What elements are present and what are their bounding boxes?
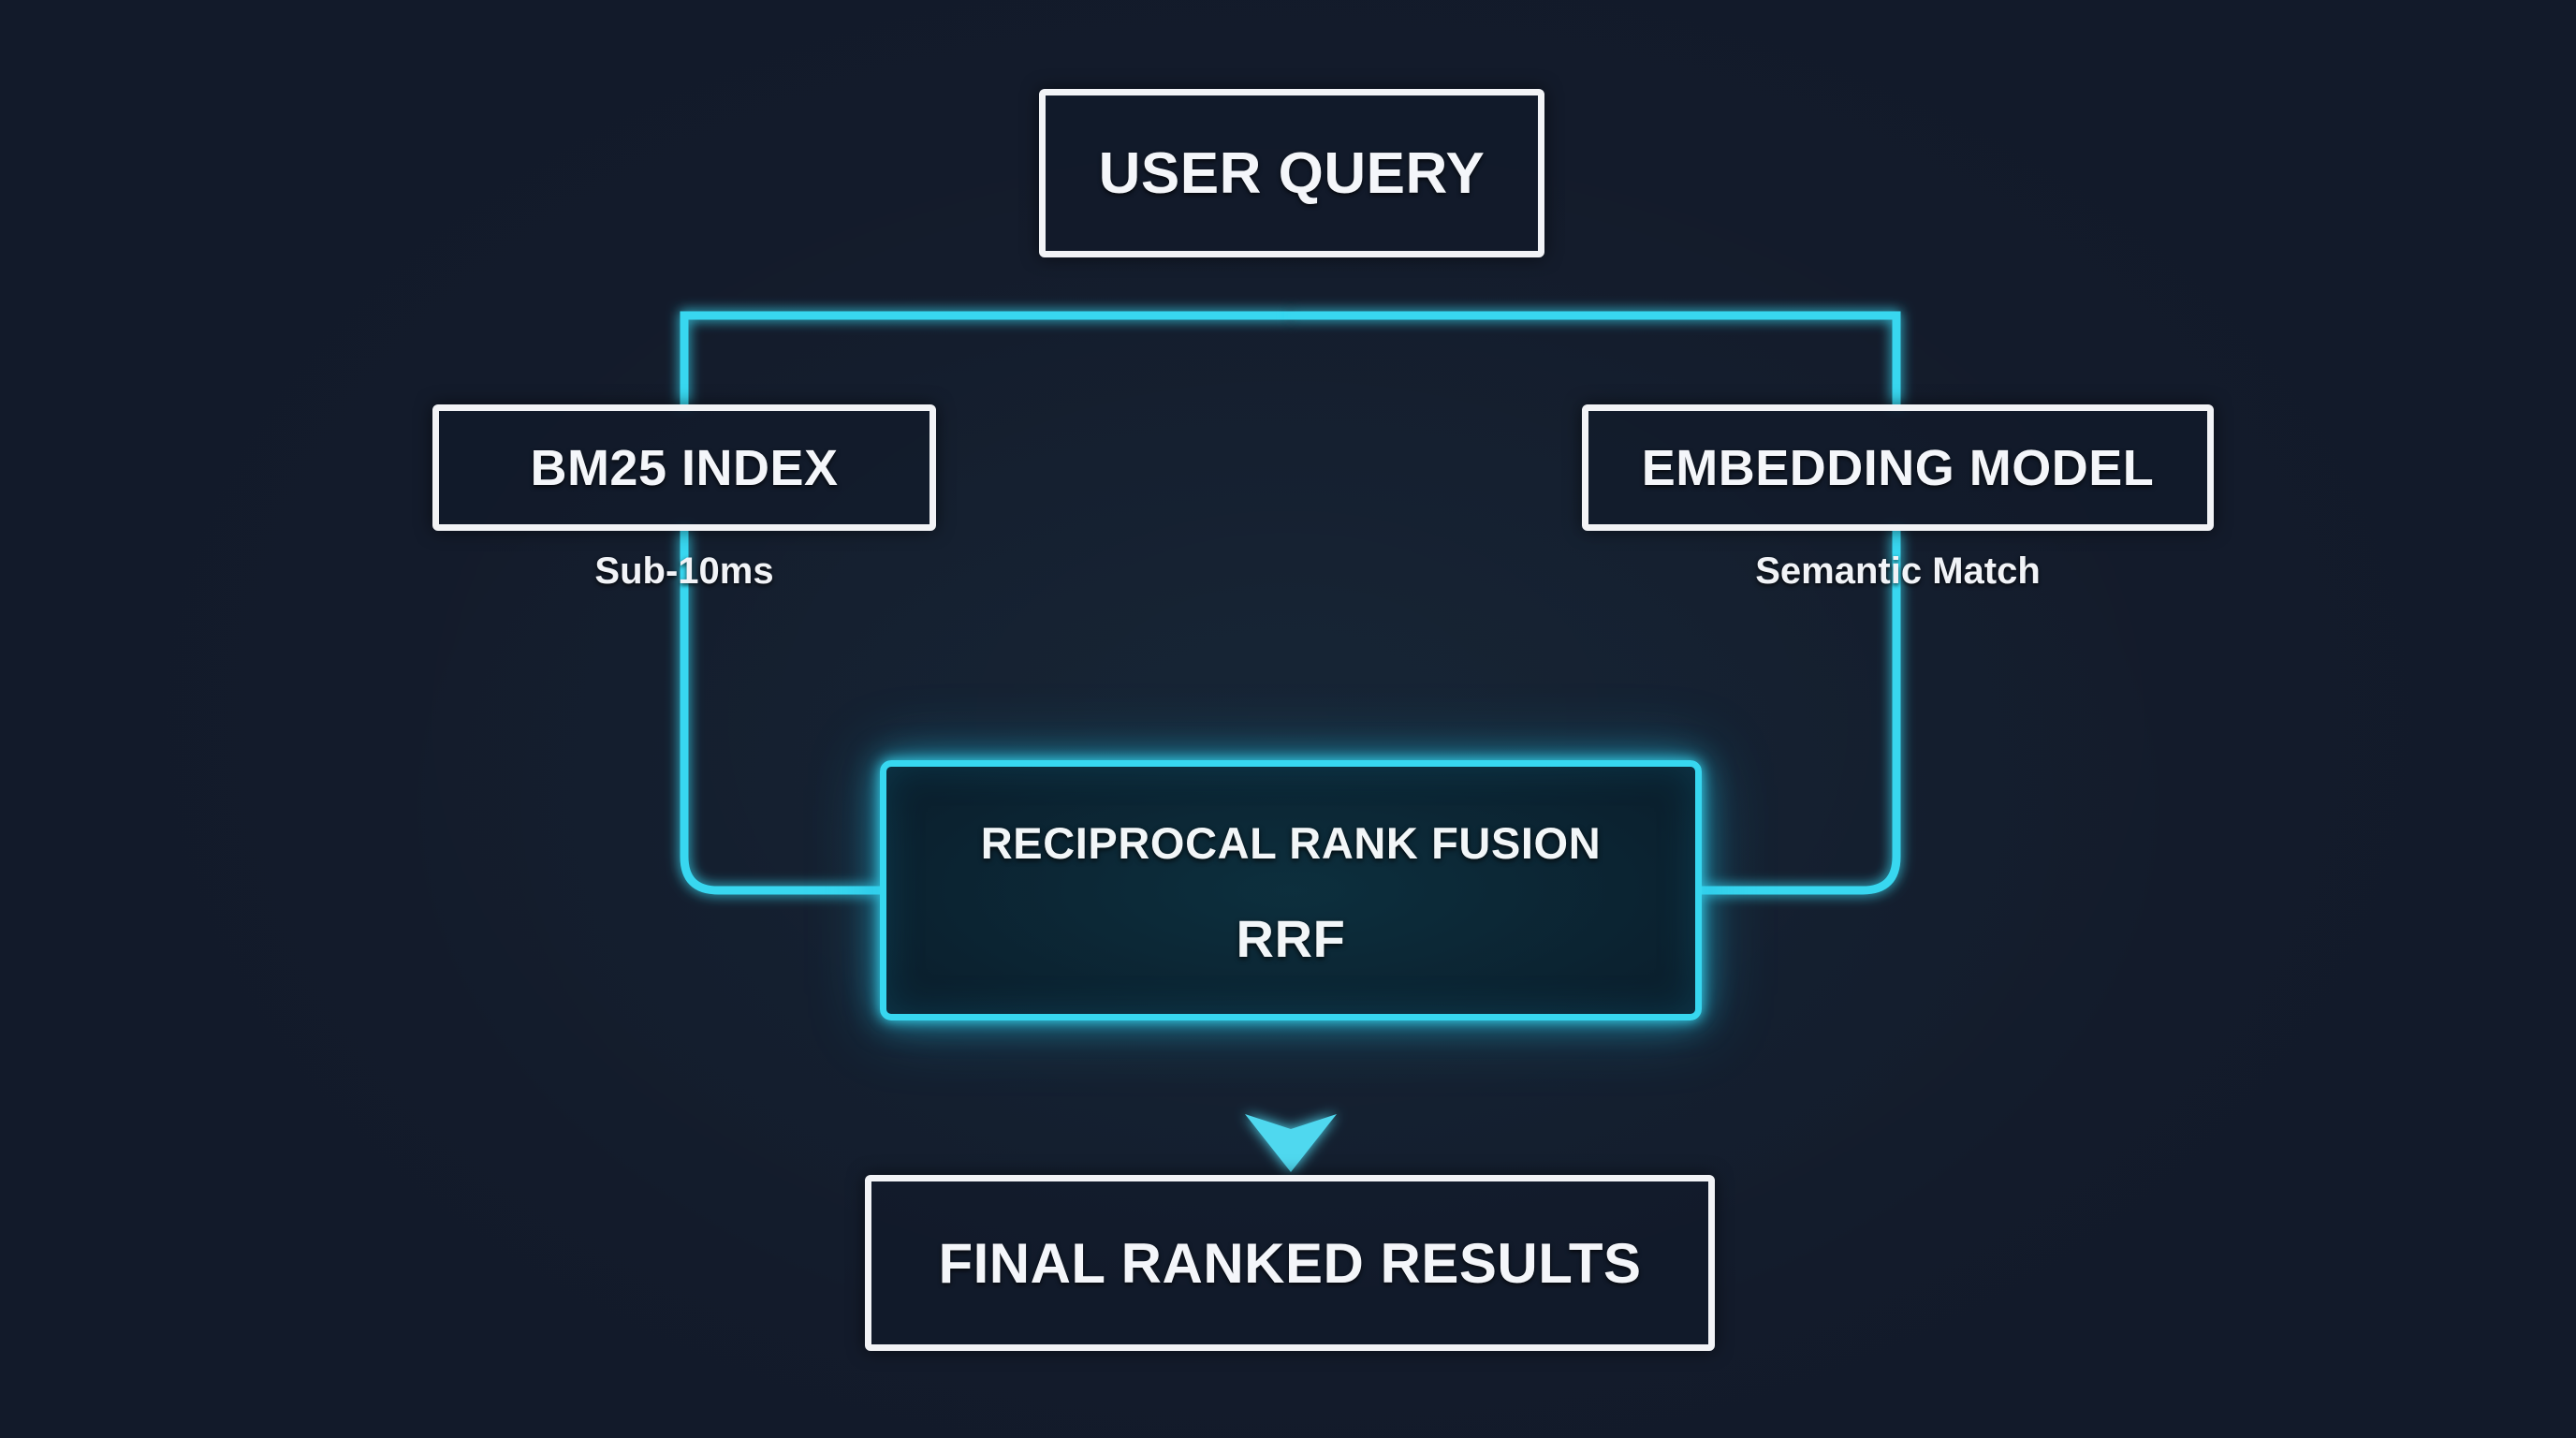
edge-userquery-to-embedding: [1291, 315, 1896, 404]
node-bm25-index-label: BM25 INDEX: [530, 439, 838, 497]
node-embedding-model[interactable]: EMBEDDING MODEL: [1582, 404, 2214, 531]
node-rrf-abbreviation: RRF: [1237, 908, 1346, 969]
edge-userquery-to-bm25: [684, 315, 1291, 404]
node-rrf-label: RECIPROCAL RANK FUSION: [981, 817, 1602, 869]
node-user-query-label: USER QUERY: [1099, 140, 1486, 207]
node-embedding-model-label: EMBEDDING MODEL: [1642, 439, 2155, 497]
node-user-query[interactable]: USER QUERY: [1039, 89, 1544, 257]
diagram-canvas: USER QUERY BM25 INDEX Sub-10ms EMBEDDING…: [0, 0, 2576, 1438]
node-final-ranked-results-label: FINAL RANKED RESULTS: [938, 1231, 1641, 1296]
node-bm25-index-caption: Sub-10ms: [432, 550, 936, 593]
node-bm25-index[interactable]: BM25 INDEX: [432, 404, 936, 531]
node-reciprocal-rank-fusion[interactable]: RECIPROCAL RANK FUSION RRF: [880, 760, 1702, 1020]
node-final-ranked-results[interactable]: FINAL RANKED RESULTS: [865, 1175, 1715, 1351]
node-embedding-model-caption: Semantic Match: [1582, 550, 2214, 593]
